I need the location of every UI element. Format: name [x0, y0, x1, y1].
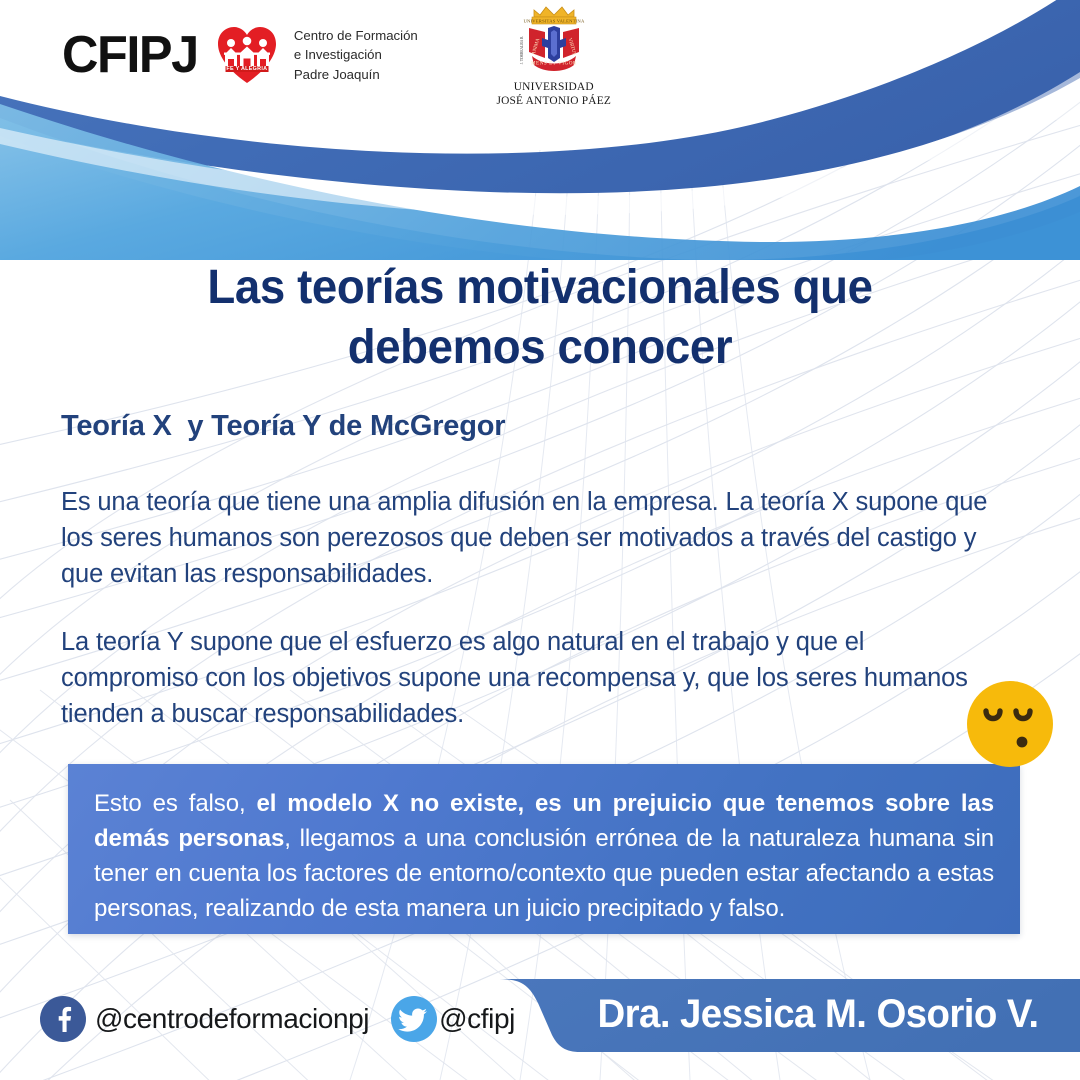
ujap-shield-icon: UNIVERSITAS VALENTINA ANIMA VIRTUS MENS … [510, 2, 598, 80]
ujap-name-line-2: JOSÉ ANTONIO PÁEZ [496, 95, 611, 108]
svg-text:J. TORREALBA R.: J. TORREALBA R. [520, 36, 524, 65]
svg-text:UNIVERSITAS VALENTINA: UNIVERSITAS VALENTINA [523, 18, 584, 23]
facebook-icon[interactable] [40, 996, 86, 1042]
org-line-1: Centro de Formación [294, 26, 418, 46]
fe-y-alegria-heart-logo: FE Y ALEGRIA [216, 25, 278, 85]
page-title-line-2: debemos conocer [348, 321, 733, 374]
brand-header: CFIPJ FE Y ALEGRIA Centro de Formación [0, 0, 1080, 110]
highlight-callout-text: Esto es falso, el modelo X no existe, es… [94, 786, 994, 926]
body-paragraph-2: La teoría Y supone que el esfuerzo es al… [61, 624, 991, 733]
facebook-handle[interactable]: @centrodeformacionpj [95, 1003, 369, 1035]
poster-canvas: CFIPJ FE Y ALEGRIA Centro de Formación [0, 0, 1080, 1080]
page-title-line-1: Las teorías motivacionales que [207, 261, 872, 314]
org-line-2: e Investigación [294, 45, 418, 65]
cfipj-wordmark: CFIPJ [62, 29, 198, 81]
author-name: Dra. Jessica M. Osorio V. [578, 992, 1058, 1037]
svg-text:MENS ET VIGOR: MENS ET VIGOR [531, 62, 577, 67]
cfipj-org-name: Centro de Formación e Investigación Padr… [294, 26, 418, 85]
social-handles-bar: @centrodeformacionpj @cfipj [40, 988, 515, 1050]
fe-y-alegria-tagline: FE Y ALEGRIA [225, 66, 268, 72]
section-subtitle: Teoría X y Teoría Y de McGregor [61, 410, 505, 443]
twitter-icon[interactable] [391, 996, 437, 1042]
highlight-segment-1: Esto es falso, [94, 790, 257, 817]
org-line-3: Padre Joaquín [294, 65, 418, 85]
page-title: Las teorías motivacionales que debemos c… [27, 258, 1053, 379]
ujap-logo: UNIVERSITAS VALENTINA ANIMA VIRTUS MENS … [484, 2, 624, 108]
highlight-callout-box: Esto es falso, el modelo X no existe, es… [68, 764, 1020, 934]
body-paragraph-1: Es una teoría que tiene una amplia difus… [61, 484, 991, 593]
ujap-name-line-1: UNIVERSIDAD [496, 81, 611, 94]
pensive-face-emoji [966, 680, 1054, 768]
ujap-name: UNIVERSIDAD JOSÉ ANTONIO PÁEZ [496, 81, 611, 108]
